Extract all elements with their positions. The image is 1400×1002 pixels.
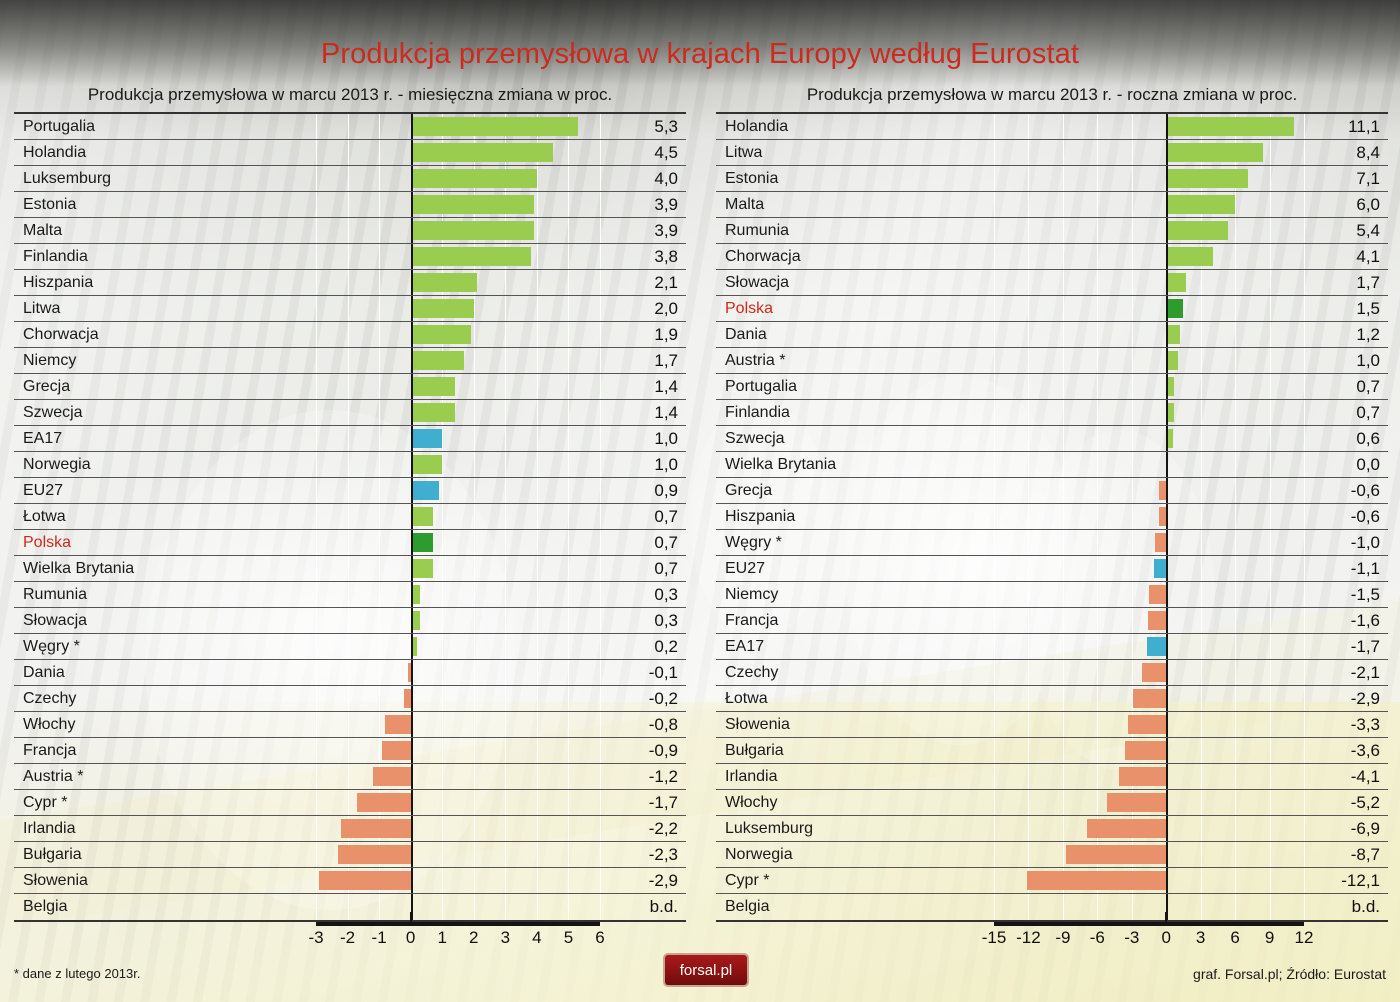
bar — [411, 117, 578, 136]
value-label: 1,0 — [1304, 348, 1388, 373]
table-row: Węgry *-1,0 — [716, 530, 1388, 556]
country-label: Bułgaria — [716, 738, 994, 763]
value-label: -2,9 — [600, 868, 686, 893]
axis-tick-label: -1 — [372, 928, 387, 948]
bar-cell — [316, 296, 600, 321]
bar — [411, 533, 433, 552]
gridlines — [316, 426, 600, 451]
country-label: Grecja — [716, 478, 994, 503]
country-label: Bułgaria — [14, 842, 316, 867]
zero-axis-line — [1166, 322, 1168, 347]
page-title: Produkcja przemysłowa w krajach Europy w… — [0, 38, 1400, 71]
bar-cell — [994, 244, 1304, 269]
table-row: Estonia7,1 — [716, 166, 1388, 192]
value-label: 4,0 — [600, 166, 686, 191]
country-label: Norwegia — [14, 452, 316, 477]
zero-axis-line — [411, 790, 413, 815]
bar-cell — [994, 790, 1304, 815]
table-row: Czechy-2,1 — [716, 660, 1388, 686]
bar-cell — [994, 166, 1304, 191]
bar — [411, 247, 531, 266]
gridlines — [994, 894, 1304, 920]
bar-cell — [316, 738, 600, 763]
country-label: Chorwacja — [716, 244, 994, 269]
value-label: 2,1 — [600, 270, 686, 295]
value-label: 7,1 — [1304, 166, 1388, 191]
gridlines — [316, 712, 600, 737]
bar-cell — [316, 452, 600, 477]
bar-cell — [994, 608, 1304, 633]
zero-axis-line — [411, 296, 413, 321]
zero-axis-line — [1166, 894, 1168, 920]
table-row: Estonia3,9 — [14, 192, 686, 218]
country-label: Francja — [716, 608, 994, 633]
zero-axis-line — [1166, 842, 1168, 867]
bar-cell — [316, 842, 600, 867]
bar-cell — [316, 530, 600, 555]
gridlines — [316, 530, 600, 555]
bar-cell — [316, 374, 600, 399]
country-label: Estonia — [716, 166, 994, 191]
gridlines — [994, 244, 1304, 269]
table-row: Bułgaria-3,6 — [716, 738, 1388, 764]
bar — [1154, 559, 1167, 578]
table-row: Rumunia5,4 — [716, 218, 1388, 244]
table-row: Belgiab.d. — [14, 894, 686, 920]
bar — [411, 377, 455, 396]
gridlines — [316, 608, 600, 633]
value-label: 0,7 — [1304, 400, 1388, 425]
axis-line — [994, 922, 1304, 926]
zero-axis-line — [1166, 452, 1168, 477]
axis-tick-label: -2 — [340, 928, 355, 948]
country-label: Wielka Brytania — [14, 556, 316, 581]
zero-axis-line — [411, 244, 413, 269]
bar — [1159, 481, 1166, 500]
zero-axis-line — [411, 374, 413, 399]
table-row: Holandia4,5 — [14, 140, 686, 166]
zero-axis-line — [1166, 348, 1168, 373]
gridlines — [316, 738, 600, 763]
zero-axis-line — [411, 608, 413, 633]
bar-cell — [994, 660, 1304, 685]
bar-cell — [316, 712, 600, 737]
chart-annual: Holandia11,1Litwa8,4Estonia7,1Malta6,0Ru… — [716, 112, 1388, 962]
axis-tick-label: 12 — [1295, 928, 1314, 948]
bar — [1149, 585, 1166, 604]
bar — [411, 481, 439, 500]
value-label: -1,1 — [1304, 556, 1388, 581]
bar — [1166, 117, 1293, 136]
value-label: 1,0 — [600, 426, 686, 451]
country-label: Holandia — [14, 140, 316, 165]
gridlines — [316, 556, 600, 581]
country-label: Luksemburg — [716, 816, 994, 841]
country-label: Dania — [716, 322, 994, 347]
axis-tick-label: 6 — [595, 928, 604, 948]
table-row: Włochy-0,8 — [14, 712, 686, 738]
table-row: Belgiab.d. — [716, 894, 1388, 920]
gridlines — [316, 582, 600, 607]
bar — [338, 845, 411, 864]
value-label: -1,7 — [1304, 634, 1388, 659]
zero-axis-line — [411, 114, 413, 139]
country-label: Finlandia — [14, 244, 316, 269]
bar-cell — [316, 140, 600, 165]
zero-axis-line — [1166, 738, 1168, 763]
country-label: Finlandia — [716, 400, 994, 425]
country-label: Hiszpania — [14, 270, 316, 295]
zero-axis-line — [411, 868, 413, 893]
zero-axis-line — [1166, 634, 1168, 659]
gridlines — [994, 192, 1304, 217]
bar — [411, 559, 433, 578]
table-row: Niemcy1,7 — [14, 348, 686, 374]
bar — [411, 507, 433, 526]
axis-tick-label: -9 — [1055, 928, 1070, 948]
bar-cell — [316, 166, 600, 191]
country-label: Norwegia — [716, 842, 994, 867]
chart-subtitle-monthly: Produkcja przemysłowa w marcu 2013 r. - … — [14, 82, 686, 112]
table-row: Szwecja1,4 — [14, 400, 686, 426]
bar-cell — [316, 686, 600, 711]
value-label: -0,6 — [1304, 504, 1388, 529]
country-label: Portugalia — [716, 374, 994, 399]
table-row: Cypr *-12,1 — [716, 868, 1388, 894]
bar-cell — [316, 348, 600, 373]
bar-cell — [316, 634, 600, 659]
value-label: -1,0 — [1304, 530, 1388, 555]
zero-axis-line — [1166, 790, 1168, 815]
country-label: Holandia — [716, 114, 994, 139]
forsal-logo: forsal.pl — [665, 955, 747, 985]
country-label: Belgia — [716, 894, 994, 920]
country-label: Litwa — [14, 296, 316, 321]
gridlines — [994, 478, 1304, 503]
value-label: 6,0 — [1304, 192, 1388, 217]
zero-axis-line — [411, 218, 413, 243]
country-label: Szwecja — [716, 426, 994, 451]
table-row: Grecja-0,6 — [716, 478, 1388, 504]
bar — [1159, 507, 1166, 526]
zero-axis-line — [1166, 140, 1168, 165]
gridlines — [316, 894, 600, 920]
bar-cell — [994, 868, 1304, 893]
zero-axis-line — [411, 894, 413, 920]
zero-axis-line — [411, 452, 413, 477]
bar-cell — [316, 582, 600, 607]
bar — [1128, 715, 1166, 734]
bar — [411, 351, 465, 370]
country-label: Łotwa — [14, 504, 316, 529]
value-label: -12,1 — [1304, 868, 1388, 893]
bar — [411, 455, 443, 474]
bar-cell — [994, 842, 1304, 867]
value-label: 4,5 — [600, 140, 686, 165]
country-label: Włochy — [14, 712, 316, 737]
chart-subtitle-annual: Produkcja przemysłowa w marcu 2013 r. - … — [716, 82, 1388, 112]
bar — [1166, 221, 1228, 240]
gridlines — [316, 504, 600, 529]
table-row: Irlandia-2,2 — [14, 816, 686, 842]
zero-axis-line — [1166, 504, 1168, 529]
axis-line — [316, 922, 600, 926]
table-row: Niemcy-1,5 — [716, 582, 1388, 608]
gridlines — [316, 400, 600, 425]
value-label: 1,4 — [600, 400, 686, 425]
bar — [1166, 169, 1248, 188]
value-label: 4,1 — [1304, 244, 1388, 269]
bar — [411, 299, 474, 318]
gridlines — [994, 296, 1304, 321]
table-row: Portugalia0,7 — [716, 374, 1388, 400]
bar — [1155, 533, 1166, 552]
country-label: Francja — [14, 738, 316, 763]
value-label: -2,9 — [1304, 686, 1388, 711]
footnote: * dane z lutego 2013r. — [14, 966, 141, 981]
country-label: Wielka Brytania — [716, 452, 994, 477]
value-label: 5,3 — [600, 114, 686, 139]
gridlines — [316, 634, 600, 659]
bar — [411, 403, 455, 422]
bar — [1147, 637, 1167, 656]
zero-axis-line — [1166, 244, 1168, 269]
table-row: Łotwa-2,9 — [716, 686, 1388, 712]
bar-cell — [994, 374, 1304, 399]
zero-axis-line — [411, 816, 413, 841]
bar — [1142, 663, 1166, 682]
bar — [319, 871, 411, 890]
x-axis: -15-12-9-6-3036912 — [716, 922, 1388, 962]
country-label: Słowenia — [14, 868, 316, 893]
bar-cell — [994, 452, 1304, 477]
table-row: Polska0,7 — [14, 530, 686, 556]
bar-cell — [994, 400, 1304, 425]
country-label: Słowacja — [716, 270, 994, 295]
gridlines — [994, 426, 1304, 451]
bar — [411, 143, 553, 162]
panel-monthly: Produkcja przemysłowa w marcu 2013 r. - … — [14, 82, 686, 962]
zero-axis-line — [1166, 686, 1168, 711]
bar-cell — [994, 478, 1304, 503]
axis-tick-label: 5 — [564, 928, 573, 948]
zero-axis-line — [1166, 296, 1168, 321]
zero-axis-line — [411, 166, 413, 191]
bar-cell — [316, 322, 600, 347]
zero-axis-line — [411, 478, 413, 503]
country-label: Irlandia — [14, 816, 316, 841]
country-label: EU27 — [14, 478, 316, 503]
table-row: Portugalia5,3 — [14, 114, 686, 140]
zero-axis-line — [411, 192, 413, 217]
zero-axis-line — [1166, 218, 1168, 243]
country-label: Portugalia — [14, 114, 316, 139]
bar-cell — [994, 686, 1304, 711]
bar — [1166, 195, 1235, 214]
gridlines — [994, 452, 1304, 477]
country-label: Grecja — [14, 374, 316, 399]
zero-axis-line — [411, 582, 413, 607]
zero-axis-line — [411, 842, 413, 867]
bar-cell — [316, 868, 600, 893]
zero-axis-line — [411, 660, 413, 685]
bar — [1166, 273, 1186, 292]
bar — [1166, 325, 1180, 344]
zero-axis-line — [1166, 582, 1168, 607]
value-label: 2,0 — [600, 296, 686, 321]
country-label: Węgry * — [14, 634, 316, 659]
value-label: 0,7 — [1304, 374, 1388, 399]
country-label: Dania — [14, 660, 316, 685]
axis-tick-label: 2 — [469, 928, 478, 948]
bar — [1166, 143, 1262, 162]
axis-tick-label: -6 — [1090, 928, 1105, 948]
gridlines — [316, 478, 600, 503]
table-row: Cypr *-1,7 — [14, 790, 686, 816]
panel-annual: Produkcja przemysłowa w marcu 2013 r. - … — [716, 82, 1388, 962]
country-label: EA17 — [716, 634, 994, 659]
value-label: 3,9 — [600, 218, 686, 243]
axis-tick-label: 0 — [406, 928, 415, 948]
gridlines — [316, 660, 600, 685]
zero-axis-line — [411, 322, 413, 347]
value-label: -0,8 — [600, 712, 686, 737]
table-row: Luksemburg4,0 — [14, 166, 686, 192]
bar-cell — [994, 634, 1304, 659]
gridlines — [994, 166, 1304, 191]
x-axis: -3-2-10123456 — [14, 922, 686, 962]
value-label: -2,3 — [600, 842, 686, 867]
country-label: Chorwacja — [14, 322, 316, 347]
zero-axis-line — [1166, 556, 1168, 581]
axis-tick-label: -3 — [308, 928, 323, 948]
gridlines — [994, 530, 1304, 555]
chart-rows: Portugalia5,3Holandia4,5Luksemburg4,0Est… — [14, 112, 686, 922]
value-label: 3,8 — [600, 244, 686, 269]
table-row: Dania1,2 — [716, 322, 1388, 348]
table-row: EU27-1,1 — [716, 556, 1388, 582]
bar-cell — [994, 114, 1304, 139]
value-label: b.d. — [1304, 894, 1388, 920]
value-label: -6,9 — [1304, 816, 1388, 841]
value-label: 8,4 — [1304, 140, 1388, 165]
zero-axis-line — [411, 400, 413, 425]
zero-axis-line — [1166, 374, 1168, 399]
bar-cell — [994, 738, 1304, 763]
axis-tick-label: 1 — [437, 928, 446, 948]
country-label: Czechy — [716, 660, 994, 685]
table-row: Wielka Brytania0,0 — [716, 452, 1388, 478]
axis-tick-label: 3 — [1196, 928, 1205, 948]
zero-axis-line — [411, 270, 413, 295]
zero-axis-line — [411, 686, 413, 711]
table-row: Holandia11,1 — [716, 114, 1388, 140]
country-label: EU27 — [716, 556, 994, 581]
bar-cell — [316, 270, 600, 295]
zero-axis-line — [1166, 400, 1168, 425]
country-label: Polska — [716, 296, 994, 321]
country-label: Malta — [14, 218, 316, 243]
bar-cell — [994, 582, 1304, 607]
bar-cell — [994, 426, 1304, 451]
axis-tick-label: -3 — [1124, 928, 1139, 948]
bar-cell — [316, 114, 600, 139]
bar-cell — [994, 296, 1304, 321]
bar-cell — [316, 426, 600, 451]
table-row: Malta6,0 — [716, 192, 1388, 218]
country-label: Polska — [14, 530, 316, 555]
bar-cell — [994, 894, 1304, 920]
value-label: -1,5 — [1304, 582, 1388, 607]
value-label: -1,7 — [600, 790, 686, 815]
zero-axis-line — [1166, 478, 1168, 503]
country-label: EA17 — [14, 426, 316, 451]
table-row: Francja-1,6 — [716, 608, 1388, 634]
bar-cell — [316, 660, 600, 685]
bar — [385, 715, 410, 734]
bar — [1166, 299, 1183, 318]
value-label: -8,7 — [1304, 842, 1388, 867]
bar-cell — [316, 478, 600, 503]
country-label: Niemcy — [716, 582, 994, 607]
value-label: 0,3 — [600, 582, 686, 607]
table-row: Irlandia-4,1 — [716, 764, 1388, 790]
bar — [1107, 793, 1167, 812]
bar-cell — [994, 348, 1304, 373]
zero-axis-line — [1166, 764, 1168, 789]
value-label: -0,6 — [1304, 478, 1388, 503]
country-label: Łotwa — [716, 686, 994, 711]
gridlines — [316, 374, 600, 399]
bar — [411, 273, 477, 292]
bar — [411, 169, 537, 188]
bar-cell — [316, 816, 600, 841]
bar — [357, 793, 411, 812]
value-label: 0,6 — [1304, 426, 1388, 451]
chart-rows: Holandia11,1Litwa8,4Estonia7,1Malta6,0Ru… — [716, 112, 1388, 922]
country-label: Niemcy — [14, 348, 316, 373]
table-row: Polska1,5 — [716, 296, 1388, 322]
value-label: 0,7 — [600, 504, 686, 529]
gridlines — [994, 374, 1304, 399]
bar-cell — [316, 790, 600, 815]
value-label: -2,1 — [1304, 660, 1388, 685]
table-row: Francja-0,9 — [14, 738, 686, 764]
zero-axis-line — [1166, 192, 1168, 217]
zero-axis-line — [1166, 114, 1168, 139]
table-row: Norwegia-8,7 — [716, 842, 1388, 868]
gridlines — [316, 452, 600, 477]
country-label: Rumunia — [716, 218, 994, 243]
bar-cell — [316, 504, 600, 529]
table-row: Łotwa0,7 — [14, 504, 686, 530]
table-row: EA17-1,7 — [716, 634, 1388, 660]
bar — [411, 195, 534, 214]
country-label: Austria * — [716, 348, 994, 373]
table-row: Dania-0,1 — [14, 660, 686, 686]
bar — [411, 325, 471, 344]
axis-tick-label: -12 — [1016, 928, 1041, 948]
value-label: -5,2 — [1304, 790, 1388, 815]
country-label: Hiszpania — [716, 504, 994, 529]
table-row: Litwa2,0 — [14, 296, 686, 322]
gridlines — [994, 218, 1304, 243]
bar-cell — [316, 894, 600, 920]
country-label: Czechy — [14, 686, 316, 711]
table-row: Finlandia0,7 — [716, 400, 1388, 426]
zero-axis-line — [1166, 270, 1168, 295]
chart-monthly: Portugalia5,3Holandia4,5Luksemburg4,0Est… — [14, 112, 686, 962]
